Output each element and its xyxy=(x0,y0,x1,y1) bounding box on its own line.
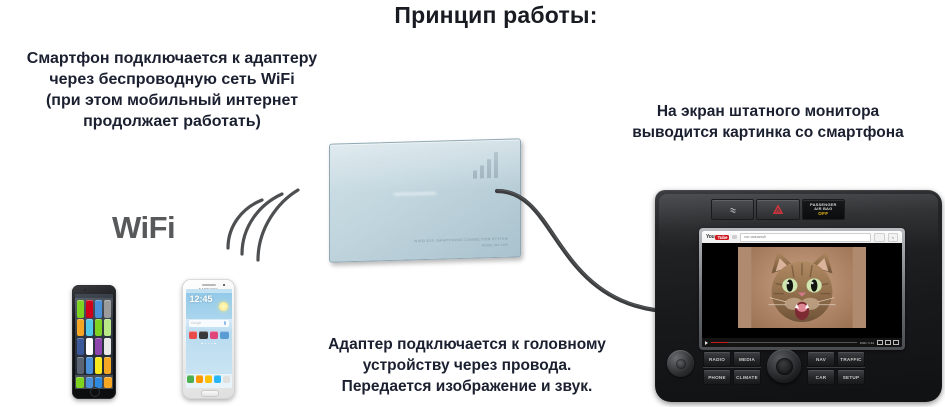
airbag-indicator: PASSENGER AIR BAG OFF xyxy=(802,199,845,220)
airbag-line-3: OFF xyxy=(818,212,828,216)
phone-app-grid xyxy=(75,298,113,375)
phone-button-label: PHONE xyxy=(708,375,726,380)
youtube-logo-tube: Tube xyxy=(715,235,729,240)
hazard-triangle-icon xyxy=(773,205,783,214)
app-icon[interactable] xyxy=(104,357,111,375)
page-dot xyxy=(214,343,216,345)
climate-button-label: CLIMATE xyxy=(736,375,758,380)
dock-app-icon[interactable] xyxy=(214,375,221,383)
menu-knob[interactable] xyxy=(767,349,801,383)
button-divider-left xyxy=(703,367,761,368)
climate-button[interactable]: CLIMATE xyxy=(733,369,761,385)
dock-app-icon[interactable] xyxy=(104,377,112,388)
head-unit-display[interactable]: You Tube кот смешной ⌕ xyxy=(702,231,902,347)
wifi-signal-icon xyxy=(222,186,302,264)
app-icon[interactable] xyxy=(104,300,111,318)
phone-home-button[interactable] xyxy=(90,387,100,397)
callout-right-line-1: На экран штатного монитора xyxy=(592,101,944,122)
app-icon[interactable] xyxy=(104,338,111,356)
samsung-front-camera xyxy=(223,284,225,286)
page-dot xyxy=(201,343,203,345)
dock-app-icon[interactable] xyxy=(196,375,203,383)
page-dot xyxy=(205,343,207,345)
callout-bottom-line-1: Адаптер подключается к головному xyxy=(281,334,653,355)
callout-bottom-line-2: устройству через провода. xyxy=(281,355,653,376)
callout-right: На экран штатного монитора выводится кар… xyxy=(592,101,944,143)
adapter-product-label: WIRELESS SMARTPHONE CONNECTION SYSTEM MO… xyxy=(330,237,508,253)
page-dot xyxy=(211,343,213,345)
phone-front-camera xyxy=(84,289,86,291)
car-button-label: CAR xyxy=(816,375,827,380)
volume-knob[interactable] xyxy=(667,350,694,377)
callout-left-line-3: (при этом мобильный интернет xyxy=(2,90,342,111)
car-button[interactable]: CAR xyxy=(807,369,835,385)
black-smartphone xyxy=(72,285,116,399)
dock-app-icon[interactable] xyxy=(76,377,84,388)
app-icon[interactable] xyxy=(86,357,93,375)
head-unit-buttons-left: RADIO MEDIA PHONE CLIMATE xyxy=(703,351,761,385)
defrost-icon xyxy=(729,206,737,214)
page-dot xyxy=(208,343,210,345)
samsung-dock xyxy=(186,374,232,388)
youtube-logo-you: You xyxy=(706,234,714,240)
callout-right-line-2: выводится картинка со смартфона xyxy=(592,122,944,143)
nav-button-label: NAV xyxy=(816,357,826,362)
radio-button[interactable]: RADIO xyxy=(703,351,731,367)
search-input[interactable]: кот смешной xyxy=(740,233,871,242)
app-icon[interactable] xyxy=(77,338,84,356)
white-smartphone: SAMSUNG 12:45 Google xyxy=(182,279,235,399)
cat-image xyxy=(738,247,866,328)
samsung-screen[interactable]: 12:45 Google xyxy=(186,289,232,388)
callout-left-line-2: через беспроводную сеть WiFi xyxy=(2,69,342,90)
cat-video-frame xyxy=(738,247,866,328)
search-icon[interactable]: ⌕ xyxy=(888,233,898,242)
defrost-button[interactable] xyxy=(711,199,754,220)
phone-earpiece xyxy=(89,290,100,291)
hazard-button[interactable] xyxy=(756,199,799,220)
dock-app-icon[interactable] xyxy=(86,377,94,388)
page-indicator-dots xyxy=(186,339,232,345)
upload-button[interactable] xyxy=(874,233,885,242)
app-icon[interactable] xyxy=(86,338,93,356)
dock-app-icon[interactable] xyxy=(223,375,230,383)
weather-sun-icon xyxy=(219,302,228,311)
app-icon[interactable] xyxy=(95,300,102,318)
callout-bottom-line-3: Передается изображение и звук. xyxy=(281,376,653,397)
media-button[interactable]: MEDIA xyxy=(733,351,761,367)
adapter-highlight xyxy=(394,192,436,196)
head-unit-buttons-right: NAV TRAFFIC CAR SETUP xyxy=(807,351,865,385)
app-icon[interactable] xyxy=(86,300,93,318)
app-icon[interactable] xyxy=(104,319,111,337)
signal-bars-icon xyxy=(472,152,502,179)
callout-left-line-1: Смартфон подключается к адаптеру xyxy=(2,48,342,69)
setup-button[interactable]: SETUP xyxy=(837,369,865,385)
setup-button-label: SETUP xyxy=(843,375,860,380)
wifi-label: WiFi xyxy=(112,210,175,246)
samsung-earpiece xyxy=(202,284,216,286)
wifi-adapter-device: WIRELESS SMARTPHONE CONNECTION SYSTEM MO… xyxy=(329,138,521,262)
wallpaper-clouds xyxy=(186,319,232,333)
traffic-button-label: TRAFFIC xyxy=(840,357,861,362)
volume-knob-center xyxy=(676,359,686,369)
progress-bar[interactable] xyxy=(711,342,857,344)
callout-left-line-4: продолжает работать) xyxy=(2,111,342,132)
youtube-logo[interactable]: You Tube xyxy=(706,234,729,240)
video-timestamp: 0:09 / 1:12 xyxy=(860,341,874,345)
video-stage: 0:09 / 1:12 xyxy=(702,243,902,347)
traffic-button[interactable]: TRAFFIC xyxy=(837,351,865,367)
app-icon[interactable] xyxy=(86,319,93,337)
app-icon[interactable] xyxy=(95,319,102,337)
callout-left: Смартфон подключается к адаптеру через б… xyxy=(2,48,342,132)
fullscreen-icon[interactable] xyxy=(893,340,899,345)
video-controls[interactable]: 0:09 / 1:12 xyxy=(702,338,902,347)
diagram-canvas: Принцип работы: Смартфон подключается к … xyxy=(0,0,945,407)
car-head-unit: PASSENGER AIR BAG OFF You Tube кот смешн… xyxy=(655,190,942,402)
app-icon[interactable] xyxy=(77,300,84,318)
black-phone-screen[interactable] xyxy=(75,294,113,389)
head-unit-top-buttons: PASSENGER AIR BAG OFF xyxy=(711,199,845,220)
samsung-home-button[interactable] xyxy=(201,390,219,397)
phone-button[interactable]: PHONE xyxy=(703,369,731,385)
dock-app-icon[interactable] xyxy=(187,375,194,383)
app-icon[interactable] xyxy=(95,357,102,375)
head-unit-display-frame: You Tube кот смешной ⌕ xyxy=(699,228,905,350)
menu-icon[interactable] xyxy=(732,235,737,239)
menu-knob-center xyxy=(776,358,793,375)
nav-button[interactable]: NAV xyxy=(807,351,835,367)
media-button-label: MEDIA xyxy=(739,357,755,362)
dock-app-icon[interactable] xyxy=(95,377,103,388)
play-pause-icon[interactable] xyxy=(705,341,708,345)
app-icon[interactable] xyxy=(77,357,84,375)
callout-bottom: Адаптер подключается к головному устройс… xyxy=(281,334,653,397)
app-icon[interactable] xyxy=(77,319,84,337)
app-icon[interactable] xyxy=(95,338,102,356)
progress-fill xyxy=(711,342,728,344)
radio-button-label: RADIO xyxy=(709,357,725,362)
video-control-icons[interactable] xyxy=(877,340,899,345)
theater-mode-icon[interactable] xyxy=(885,340,891,345)
search-query-text: кот смешной xyxy=(744,235,765,239)
button-divider-right xyxy=(807,367,865,368)
settings-icon[interactable] xyxy=(877,340,883,345)
page-title: Принцип работы: xyxy=(336,2,656,29)
dock-app-icon[interactable] xyxy=(205,375,212,383)
